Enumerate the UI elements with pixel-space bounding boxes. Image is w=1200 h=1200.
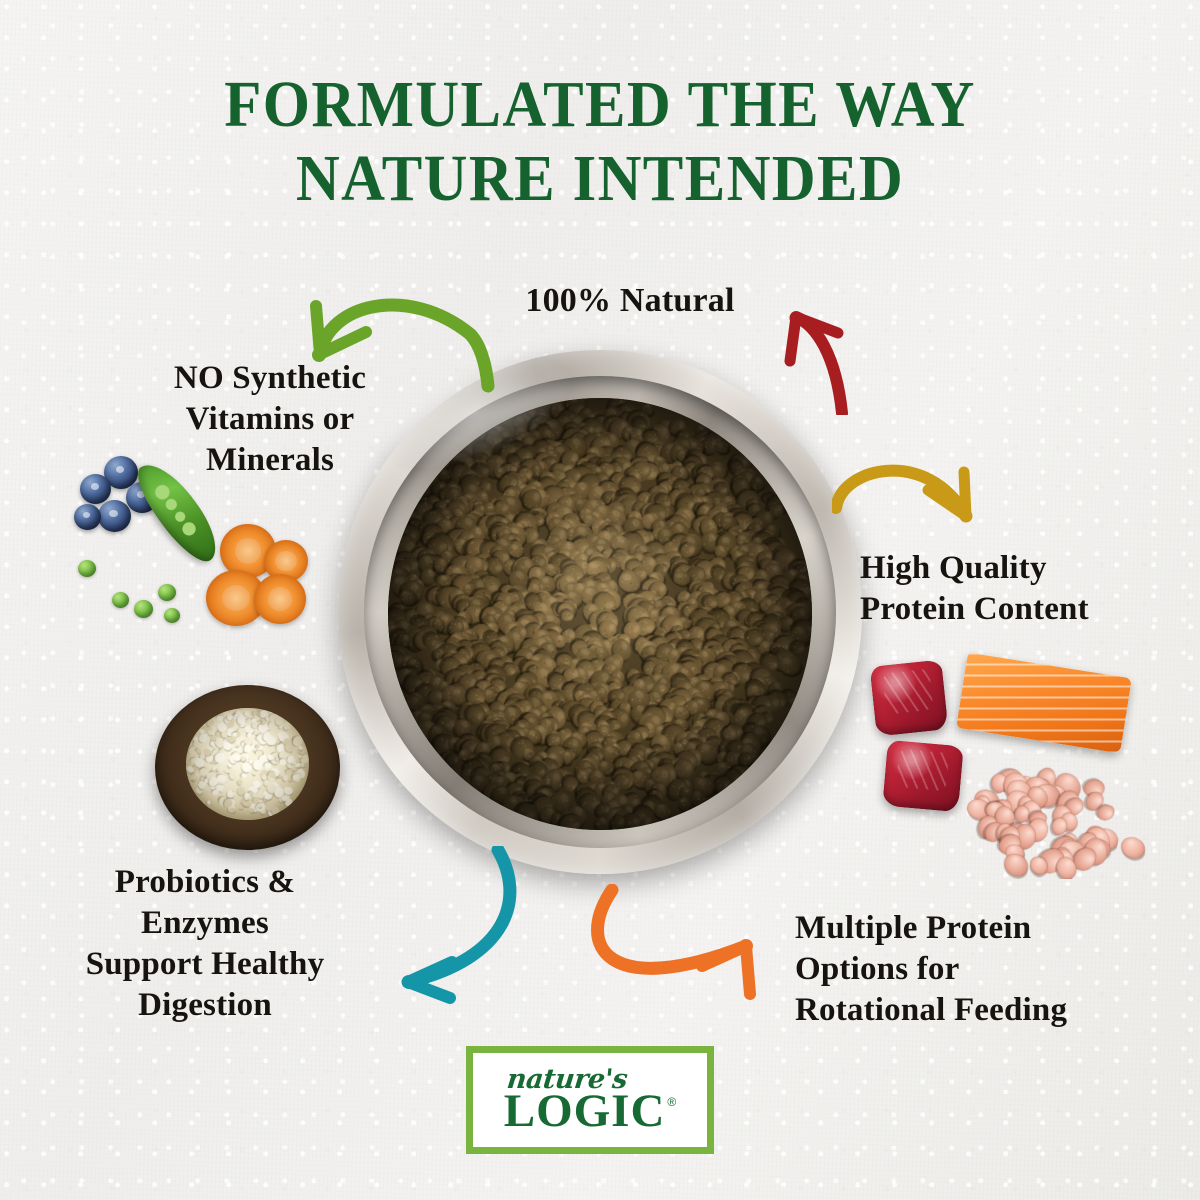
cottage-cheese-bowl-image <box>155 685 340 850</box>
callout-natural-line-1: 100% Natural <box>460 280 800 321</box>
callout-protein-line-2: Protein Content <box>860 589 1200 630</box>
page-title: FORMULATED THE WAY NATURE INTENDED <box>48 68 1152 216</box>
beef-chunk-icon <box>882 740 963 812</box>
orange-curved-arrow <box>578 884 778 1014</box>
pea-icon <box>158 584 176 601</box>
callout-probiotics-line-1: Probiotics & <box>30 862 380 903</box>
callout-multiprotein-line-2: Options for <box>795 949 1155 990</box>
callout-no-synthetic-line-3: Minerals <box>70 440 470 481</box>
infographic-poster: FORMULATED THE WAY NATURE INTENDED <box>0 0 1200 1200</box>
brand-logo[interactable]: nature's LOGIC ® <box>466 1046 714 1154</box>
beef-chunk-icon <box>870 659 949 736</box>
callout-probiotics-line-2: Enzymes <box>30 903 380 944</box>
curd-texture <box>186 708 308 820</box>
cottage-cheese-curds <box>186 708 308 820</box>
page-title-line-2: NATURE INTENDED <box>48 142 1152 216</box>
callout-no-synthetic-line-2: Vitamins or <box>70 399 470 440</box>
callout-label-protein: High Quality Protein Content <box>860 548 1200 630</box>
registered-trademark-icon: ® <box>667 1095 676 1109</box>
callout-label-no-synthetic: NO Synthetic Vitamins or Minerals <box>70 358 470 481</box>
salmon-fillet-icon <box>956 652 1132 753</box>
blueberry-icon <box>74 504 101 530</box>
pea-icon <box>112 592 129 608</box>
callout-multiprotein-line-3: Rotational Feeding <box>795 990 1155 1031</box>
pea-icon <box>78 560 96 577</box>
callout-label-multiprotein: Multiple Protein Options for Rotational … <box>795 908 1155 1031</box>
callout-multiprotein-line-1: Multiple Protein <box>795 908 1155 949</box>
pea-icon <box>164 608 180 623</box>
callout-no-synthetic-line-1: NO Synthetic <box>70 358 470 399</box>
raw-protein-assortment-image <box>865 655 1165 890</box>
callout-probiotics-line-4: Digestion <box>30 985 380 1026</box>
callout-probiotics-line-3: Support Healthy <box>30 944 380 985</box>
diced-chicken-pile <box>957 759 1157 879</box>
blueberry-icon <box>98 500 131 532</box>
page-title-line-1: FORMULATED THE WAY <box>48 68 1152 142</box>
callout-label-probiotics: Probiotics & Enzymes Support Healthy Dig… <box>30 862 380 1026</box>
carrot-slice-icon <box>254 574 306 624</box>
callout-protein-line-1: High Quality <box>860 548 1200 589</box>
pea-icon <box>134 600 153 618</box>
callout-label-natural: 100% Natural <box>460 280 800 321</box>
logo-natures-script: nature's <box>506 1067 629 1093</box>
